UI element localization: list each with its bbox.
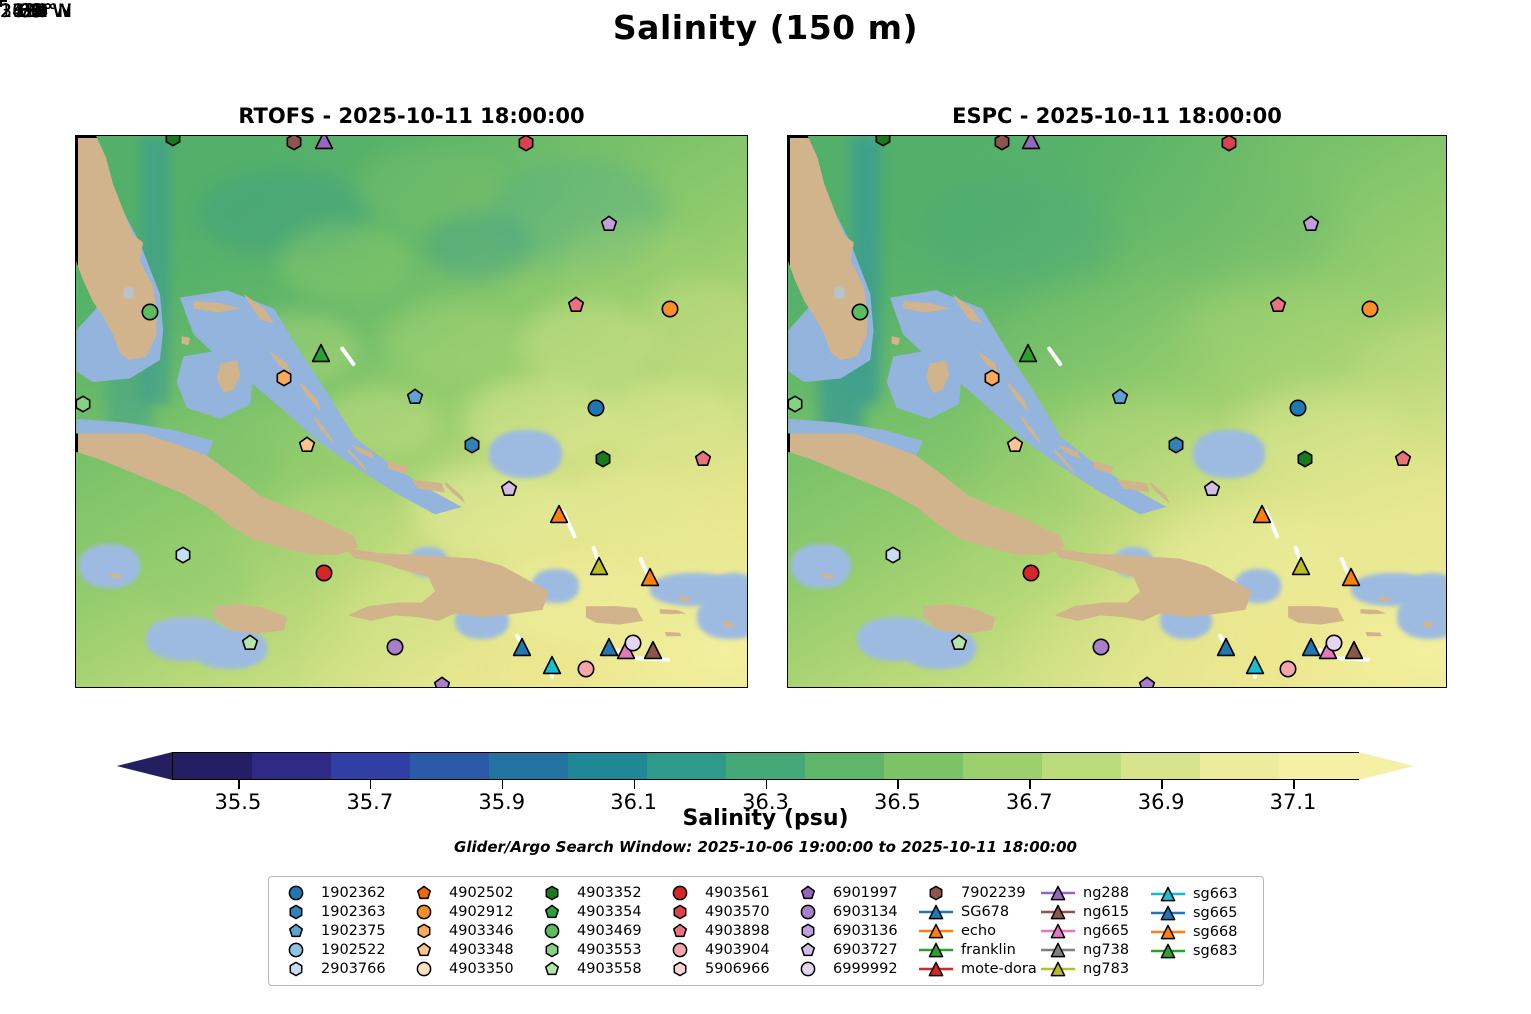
argo-marker-icon [917,884,955,902]
legend-label: ng615 [1083,904,1129,920]
colorbar-segment [331,753,411,779]
legend-label: 1902375 [321,923,386,939]
colorbar-segment [805,753,885,779]
legend-label: 4902502 [449,885,514,901]
map-marker-4903904[interactable] [1280,660,1297,677]
map-marker-4903348[interactable] [1007,436,1024,453]
legend-column: 49025024902912490334649033484903350 [405,884,533,978]
map-marker-6903134b[interactable] [433,677,450,688]
glider-marker-icon [1039,941,1077,959]
map-marker-sg663[interactable] [542,655,562,675]
legend-item-4903350[interactable]: 4903350 [405,959,533,978]
legend-label: 6903136 [833,923,898,939]
map-marker-4903898b[interactable] [695,451,712,468]
map-marker-7902239[interactable] [993,135,1010,150]
legend-column: 69019976903134690313669037276999992 [789,884,917,978]
lake-okeechobee [834,287,845,299]
glider-marker-icon [1149,904,1187,922]
glider-marker-icon [1039,903,1077,921]
legend-label: 4903469 [577,923,642,939]
argo-marker-icon [277,960,315,978]
map-marker-4903346[interactable] [983,370,1000,387]
map-marker-1902363[interactable] [1168,436,1185,453]
argo-marker-icon [789,903,827,921]
legend-item-2903766[interactable]: 2903766 [277,959,405,978]
colorbar-segment [726,753,806,779]
map-marker-franklin[interactable] [311,343,331,363]
legend-item-6903727[interactable]: 6903727 [789,940,917,959]
legend-label: ng288 [1083,885,1129,901]
legend-item-4903553[interactable]: 4903553 [533,940,661,959]
argo-marker-icon [533,903,571,921]
legend-label: 4903561 [705,885,770,901]
map-marker-1902375[interactable] [406,388,423,405]
map-marker-sg665[interactable] [1216,637,1236,657]
legend-item-sg683[interactable]: sg683 [1149,941,1253,960]
legend-item-ng783[interactable]: ng783 [1039,959,1149,978]
argo-marker-icon [661,903,699,921]
colorbar-tick [238,780,240,789]
map-marker-4903570[interactable] [1220,135,1237,152]
map-marker-4902912[interactable] [1362,300,1379,317]
map-marker-2903766[interactable] [885,546,902,563]
legend-column: 7902239 SG678 echo franklin mote-dora [917,884,1039,978]
map-marker-6903134[interactable] [1092,638,1109,655]
map-marker-sg668[interactable] [640,567,660,587]
argo-marker-icon [405,884,443,902]
legend-label: 4903352 [577,885,642,901]
map-marker-6903727[interactable] [1204,480,1221,497]
map-marker-sg668[interactable] [1341,567,1361,587]
legend-label: ng665 [1083,923,1129,939]
map-marker-4903352[interactable] [165,135,182,146]
legend-item-6901997[interactable]: 6901997 [789,884,917,903]
legend-label: 4903350 [449,961,514,977]
glider-marker-icon [1149,885,1187,903]
map-marker-4903352[interactable] [875,135,892,146]
argo-marker-icon [533,960,571,978]
legend-item-4903898[interactable]: 4903898 [661,922,789,941]
glider-marker-icon [917,941,955,959]
map-marker-7902239[interactable] [286,135,303,150]
colorbar-segment [1042,753,1122,779]
map-panel-espc[interactable] [787,135,1447,688]
legend-item-1902522[interactable]: 1902522 [277,940,405,959]
map-marker-4903898b[interactable] [1395,451,1412,468]
map-marker-4903898[interactable] [567,296,584,313]
map-marker-2903766[interactable] [175,546,192,563]
legend-label: 4903354 [577,904,642,920]
legend-item-4903346[interactable]: 4903346 [405,922,533,941]
legend-column: ng288 ng615 ng665 ng738 ng783 [1039,884,1149,978]
legend-label: sg665 [1193,905,1237,921]
legend-label: 4903553 [577,942,642,958]
glider-marker-icon [1039,922,1077,940]
map-marker-6903136[interactable] [1303,216,1320,233]
colorbar-segment [647,753,727,779]
legend-label: 4903558 [577,961,642,977]
argo-marker-icon [277,903,315,921]
legend-label: sg663 [1193,886,1237,902]
colorbar-segment [1279,753,1359,779]
colorbar-segment [489,753,569,779]
map-marker-4903561[interactable] [316,565,333,582]
map-marker-6903136[interactable] [601,216,618,233]
argo-marker-icon [789,941,827,959]
legend-item-5906966[interactable]: 5906966 [661,959,789,978]
argo-marker-icon [533,941,571,959]
figure-canvas: Salinity (150 m) RTOFS - 2025-10-11 18:0… [0,0,1531,1014]
legend-label: 4903348 [449,942,514,958]
glider-marker-icon [917,903,955,921]
map-marker-4903469[interactable] [852,304,869,321]
map-marker-ng615[interactable] [1344,640,1364,660]
legend-label: franklin [961,942,1016,958]
colorbar-min-arrow [117,752,173,780]
map-marker-6903727[interactable] [500,480,517,497]
search-window-text: Glider/Argo Search Window: 2025-10-06 19… [0,838,1531,856]
map-marker-ng783[interactable] [589,556,609,576]
legend-label: ng738 [1083,942,1129,958]
lake-okeechobee [123,287,134,299]
legend-label: 6999992 [833,961,898,977]
map-marker-4903346[interactable] [276,370,293,387]
colorbar-tick [1161,780,1163,789]
colorbar-segment [1121,753,1201,779]
map-marker-6903134b[interactable] [1138,677,1155,688]
colorbar-body [172,752,1359,780]
legend-item-4903561[interactable]: 4903561 [661,884,789,903]
legend-item-4903348[interactable]: 4903348 [405,940,533,959]
legend-item-ng665[interactable]: ng665 [1039,922,1149,941]
legend-item-6903134[interactable]: 6903134 [789,903,917,922]
colorbar: 35.535.735.936.136.336.536.736.937.1 [117,752,1414,780]
argo-marker-icon [789,884,827,902]
map-marker-1902363[interactable] [463,436,480,453]
colorbar-segment [1200,753,1280,779]
map-marker-4903352b[interactable] [1296,451,1313,468]
colorbar-tick [766,780,768,789]
legend-column: 49035614903570490389849039045906966 [661,884,789,978]
legend-label: 1902363 [321,904,386,920]
argo-marker-icon [405,922,443,940]
legend-item-SG678[interactable]: SG678 [917,903,1039,922]
legend-label: 4903898 [705,923,770,939]
glider-marker-icon [1149,942,1187,960]
legend-item-ng738[interactable]: ng738 [1039,940,1149,959]
legend-item-4902502[interactable]: 4902502 [405,884,533,903]
colorbar-tick [1029,780,1031,789]
colorbar-tick [634,780,636,789]
map-marker-6999992[interactable] [1326,634,1343,651]
legend-column: 19023621902363190237519025222903766 [277,884,405,978]
legend-item-6999992[interactable]: 6999992 [789,959,917,978]
glider-marker-icon [1149,923,1187,941]
panel-title-rtofs: RTOFS - 2025-10-11 18:00:00 [75,104,748,128]
legend-label: ng783 [1083,961,1129,977]
colorbar-segment [568,753,648,779]
legend-item-1902363[interactable]: 1902363 [277,903,405,922]
map-marker-4903352b[interactable] [594,451,611,468]
map-panel-rtofs[interactable] [75,135,748,688]
map-marker-4903553[interactable] [75,396,91,413]
legend-item-sg663[interactable]: sg663 [1149,884,1253,903]
map-marker-ng288[interactable] [314,135,334,150]
legend-label: 4903346 [449,923,514,939]
argo-marker-icon [789,922,827,940]
argo-marker-icon [405,941,443,959]
map-marker-6999992[interactable] [624,634,641,651]
map-marker-1902362[interactable] [588,399,605,416]
map-marker-sg665[interactable] [512,637,532,657]
legend-label: 6903134 [833,904,898,920]
argo-marker-icon [661,884,699,902]
legend-item-ng615[interactable]: ng615 [1039,903,1149,922]
colorbar-segment [963,753,1043,779]
legend-column: 49033524903354490346949035534903558 [533,884,661,978]
legend-item-sg665[interactable]: sg665 [1149,903,1253,922]
legend-label: 4902912 [449,904,514,920]
legend: 1902362190236319023751902522290376649025… [268,876,1264,986]
map-marker-4903558[interactable] [242,634,259,651]
legend-label: echo [961,923,996,939]
argo-marker-icon [405,960,443,978]
colorbar-segment [410,753,490,779]
glider-marker-icon [917,922,955,940]
legend-label: 4903904 [705,942,770,958]
map-marker-4903348[interactable] [299,436,316,453]
colorbar-tick [1293,780,1295,789]
map-marker-1902362[interactable] [1289,399,1306,416]
legend-item-4902912[interactable]: 4902912 [405,903,533,922]
legend-label: mote-dora [961,961,1037,977]
colorbar-tick [502,780,504,789]
argo-marker-icon [277,922,315,940]
map-marker-6903134[interactable] [386,638,403,655]
argo-marker-icon [405,903,443,921]
legend-item-4903558[interactable]: 4903558 [533,959,661,978]
legend-item-4903570[interactable]: 4903570 [661,903,789,922]
map-marker-4903570[interactable] [517,135,534,152]
legend-item-ng288[interactable]: ng288 [1039,884,1149,903]
argo-marker-icon [789,960,827,978]
legend-label: SG678 [961,904,1009,920]
map-marker-4902912[interactable] [661,300,678,317]
legend-item-6903136[interactable]: 6903136 [789,922,917,941]
legend-column: sg663 sg665 sg668 sg683 [1149,884,1253,978]
map-marker-4903561[interactable] [1023,565,1040,582]
glider-marker-icon [917,960,955,978]
map-marker-4903898[interactable] [1270,296,1287,313]
map-marker-ng783[interactable] [1291,556,1311,576]
map-marker-sg663[interactable] [1245,655,1265,675]
legend-label: sg683 [1193,943,1237,959]
map-marker-ng615[interactable] [643,640,663,660]
glider-marker-icon [1039,960,1077,978]
legend-label: 5906966 [705,961,770,977]
legend-label: sg668 [1193,924,1237,940]
legend-item-4903469[interactable]: 4903469 [533,922,661,941]
legend-label: 1902522 [321,942,386,958]
legend-item-mote-dora[interactable]: mote-dora [917,959,1039,978]
map-marker-echo[interactable] [1252,504,1272,524]
argo-marker-icon [277,941,315,959]
map-marker-4903558[interactable] [951,634,968,651]
argo-marker-icon [661,922,699,940]
legend-label: 1902362 [321,885,386,901]
y-minor-tick [0,0,4,1]
argo-marker-icon [661,941,699,959]
map-marker-ng288[interactable] [1021,135,1041,150]
map-marker-franklin[interactable] [1018,343,1038,363]
legend-item-7902239[interactable]: 7902239 [917,884,1039,903]
legend-item-1902362[interactable]: 1902362 [277,884,405,903]
argo-marker-icon [661,960,699,978]
legend-label: 6903727 [833,942,898,958]
argo-marker-icon [277,884,315,902]
legend-item-4903354[interactable]: 4903354 [533,903,661,922]
colorbar-max-arrow [1358,752,1414,780]
map-marker-1902375[interactable] [1112,388,1129,405]
colorbar-tick [370,780,372,789]
legend-item-franklin[interactable]: franklin [917,940,1039,959]
colorbar-segment [884,753,964,779]
argo-marker-icon [533,884,571,902]
legend-item-1902375[interactable]: 1902375 [277,922,405,941]
panel-title-espc: ESPC - 2025-10-11 18:00:00 [787,104,1447,128]
figure-title: Salinity (150 m) [0,8,1531,47]
map-marker-echo[interactable] [549,504,569,524]
legend-label: 6901997 [833,885,898,901]
legend-label: 7902239 [961,885,1026,901]
map-marker-4903553[interactable] [787,396,803,413]
colorbar-tick [897,780,899,789]
y-tick-label: 18°N [0,0,80,22]
map-marker-4903904[interactable] [577,660,594,677]
legend-item-echo[interactable]: echo [917,922,1039,941]
colorbar-label: Salinity (psu) [0,806,1531,831]
legend-item-4903904[interactable]: 4903904 [661,940,789,959]
colorbar-segment [252,753,332,779]
legend-label: 4903570 [705,904,770,920]
colorbar-segment [173,753,253,779]
legend-item-4903352[interactable]: 4903352 [533,884,661,903]
glider-marker-icon [1039,884,1077,902]
legend-label: 2903766 [321,961,386,977]
legend-item-sg668[interactable]: sg668 [1149,922,1253,941]
map-marker-4903469[interactable] [141,304,158,321]
argo-marker-icon [533,922,571,940]
